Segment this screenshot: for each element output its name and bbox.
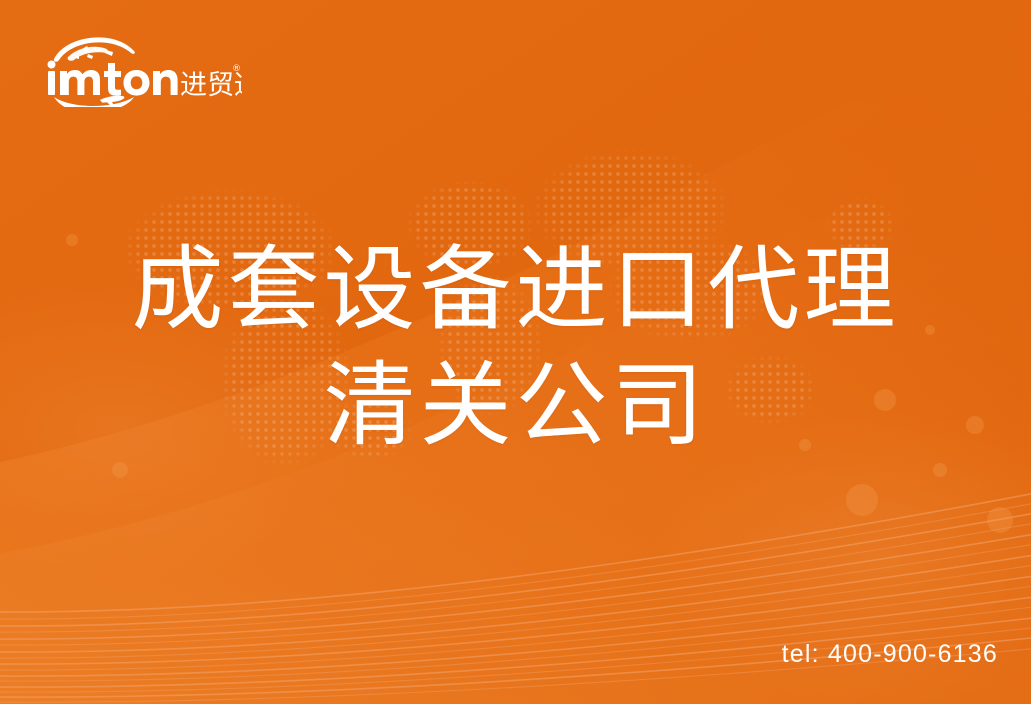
globe-icon [54, 37, 135, 61]
logo-trademark-symbol: ® [232, 64, 241, 74]
swoosh-plane-icon [54, 96, 134, 107]
headline-line-1: 成套设备进口代理 [0, 232, 1031, 348]
poster-canvas: 进贸通 ® 成套设备进口代理 清关公司 tel: 400-900-6136 [0, 0, 1031, 704]
company-logo[interactable]: 进贸通 ® [42, 27, 242, 107]
logo-chinese-name: 进贸通 [180, 70, 242, 101]
telephone-text[interactable]: tel: 400-900-6136 [782, 640, 998, 669]
logo-wordmark [48, 61, 178, 96]
headline-line-2: 清关公司 [0, 348, 1031, 464]
headline: 成套设备进口代理 清关公司 [0, 232, 1031, 464]
